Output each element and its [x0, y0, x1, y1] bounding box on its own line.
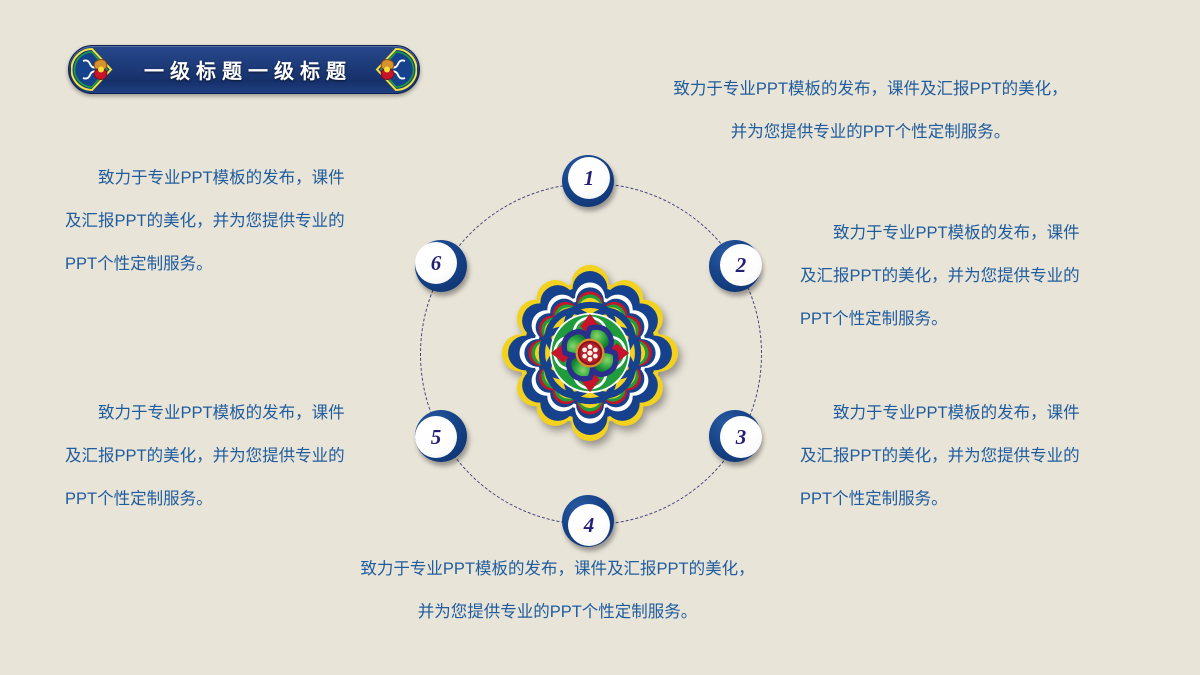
- text-block-6: 致力于专业PPT模板的发布，课件 及汇报PPT的美化，并为您提供专业的 PPT个…: [65, 392, 345, 521]
- badge-3[interactable]: 3: [709, 410, 765, 466]
- text-line: 致力于专业PPT模板的发布，课件及汇报PPT的美化，: [285, 548, 830, 591]
- badge-number: 4: [568, 504, 610, 546]
- badge-number: 6: [415, 242, 457, 284]
- text-block-5: 致力于专业PPT模板的发布，课件 及汇报PPT的美化，并为您提供专业的 PPT个…: [65, 157, 345, 286]
- text-line: 及汇报PPT的美化，并为您提供专业的: [65, 200, 345, 243]
- text-line: PPT个性定制服务。: [65, 478, 345, 521]
- text-block-3: 致力于专业PPT模板的发布，课件 及汇报PPT的美化，并为您提供专业的 PPT个…: [800, 392, 1080, 521]
- badge-number: 5: [415, 416, 457, 458]
- badge-5[interactable]: 5: [415, 410, 471, 466]
- slide-canvas: 一级标题一级标题: [0, 0, 1200, 675]
- text-line: 并为您提供专业的PPT个性定制服务。: [285, 591, 830, 634]
- badge-6[interactable]: 6: [415, 240, 471, 296]
- badge-number: 3: [720, 416, 762, 458]
- badge-2[interactable]: 2: [709, 240, 765, 296]
- text-line: PPT个性定制服务。: [800, 298, 1080, 341]
- page-title: 一级标题一级标题: [68, 45, 420, 94]
- text-block-2: 致力于专业PPT模板的发布，课件 及汇报PPT的美化，并为您提供专业的 PPT个…: [800, 212, 1080, 341]
- text-line: PPT个性定制服务。: [800, 478, 1080, 521]
- text-line: 及汇报PPT的美化，并为您提供专业的: [65, 435, 345, 478]
- badge-4[interactable]: 4: [562, 495, 618, 551]
- text-block-1: 致力于专业PPT模板的发布，课件及汇报PPT的美化， 并为您提供专业的PPT个性…: [598, 68, 1143, 154]
- title-banner: 一级标题一级标题: [68, 45, 420, 94]
- text-line: 致力于专业PPT模板的发布，课件: [800, 392, 1080, 435]
- text-line: 致力于专业PPT模板的发布，课件: [65, 157, 345, 200]
- text-line: 致力于专业PPT模板的发布，课件: [65, 392, 345, 435]
- cycle-diagram: 1 2 3 4 5 6: [355, 118, 825, 588]
- text-line: 致力于专业PPT模板的发布，课件: [800, 212, 1080, 255]
- corner-ornament-bottom-left: [0, 587, 88, 675]
- text-line: 并为您提供专业的PPT个性定制服务。: [598, 111, 1143, 154]
- text-block-4: 致力于专业PPT模板的发布，课件及汇报PPT的美化， 并为您提供专业的PPT个性…: [285, 548, 830, 634]
- badge-1[interactable]: 1: [562, 155, 618, 211]
- badge-number: 2: [720, 244, 762, 286]
- text-line: 及汇报PPT的美化，并为您提供专业的: [800, 255, 1080, 298]
- text-line: PPT个性定制服务。: [65, 243, 345, 286]
- text-line: 致力于专业PPT模板的发布，课件及汇报PPT的美化，: [598, 68, 1143, 111]
- chinese-floral-medallion-icon: [501, 264, 679, 442]
- badge-number: 1: [568, 157, 610, 199]
- text-line: 及汇报PPT的美化，并为您提供专业的: [800, 435, 1080, 478]
